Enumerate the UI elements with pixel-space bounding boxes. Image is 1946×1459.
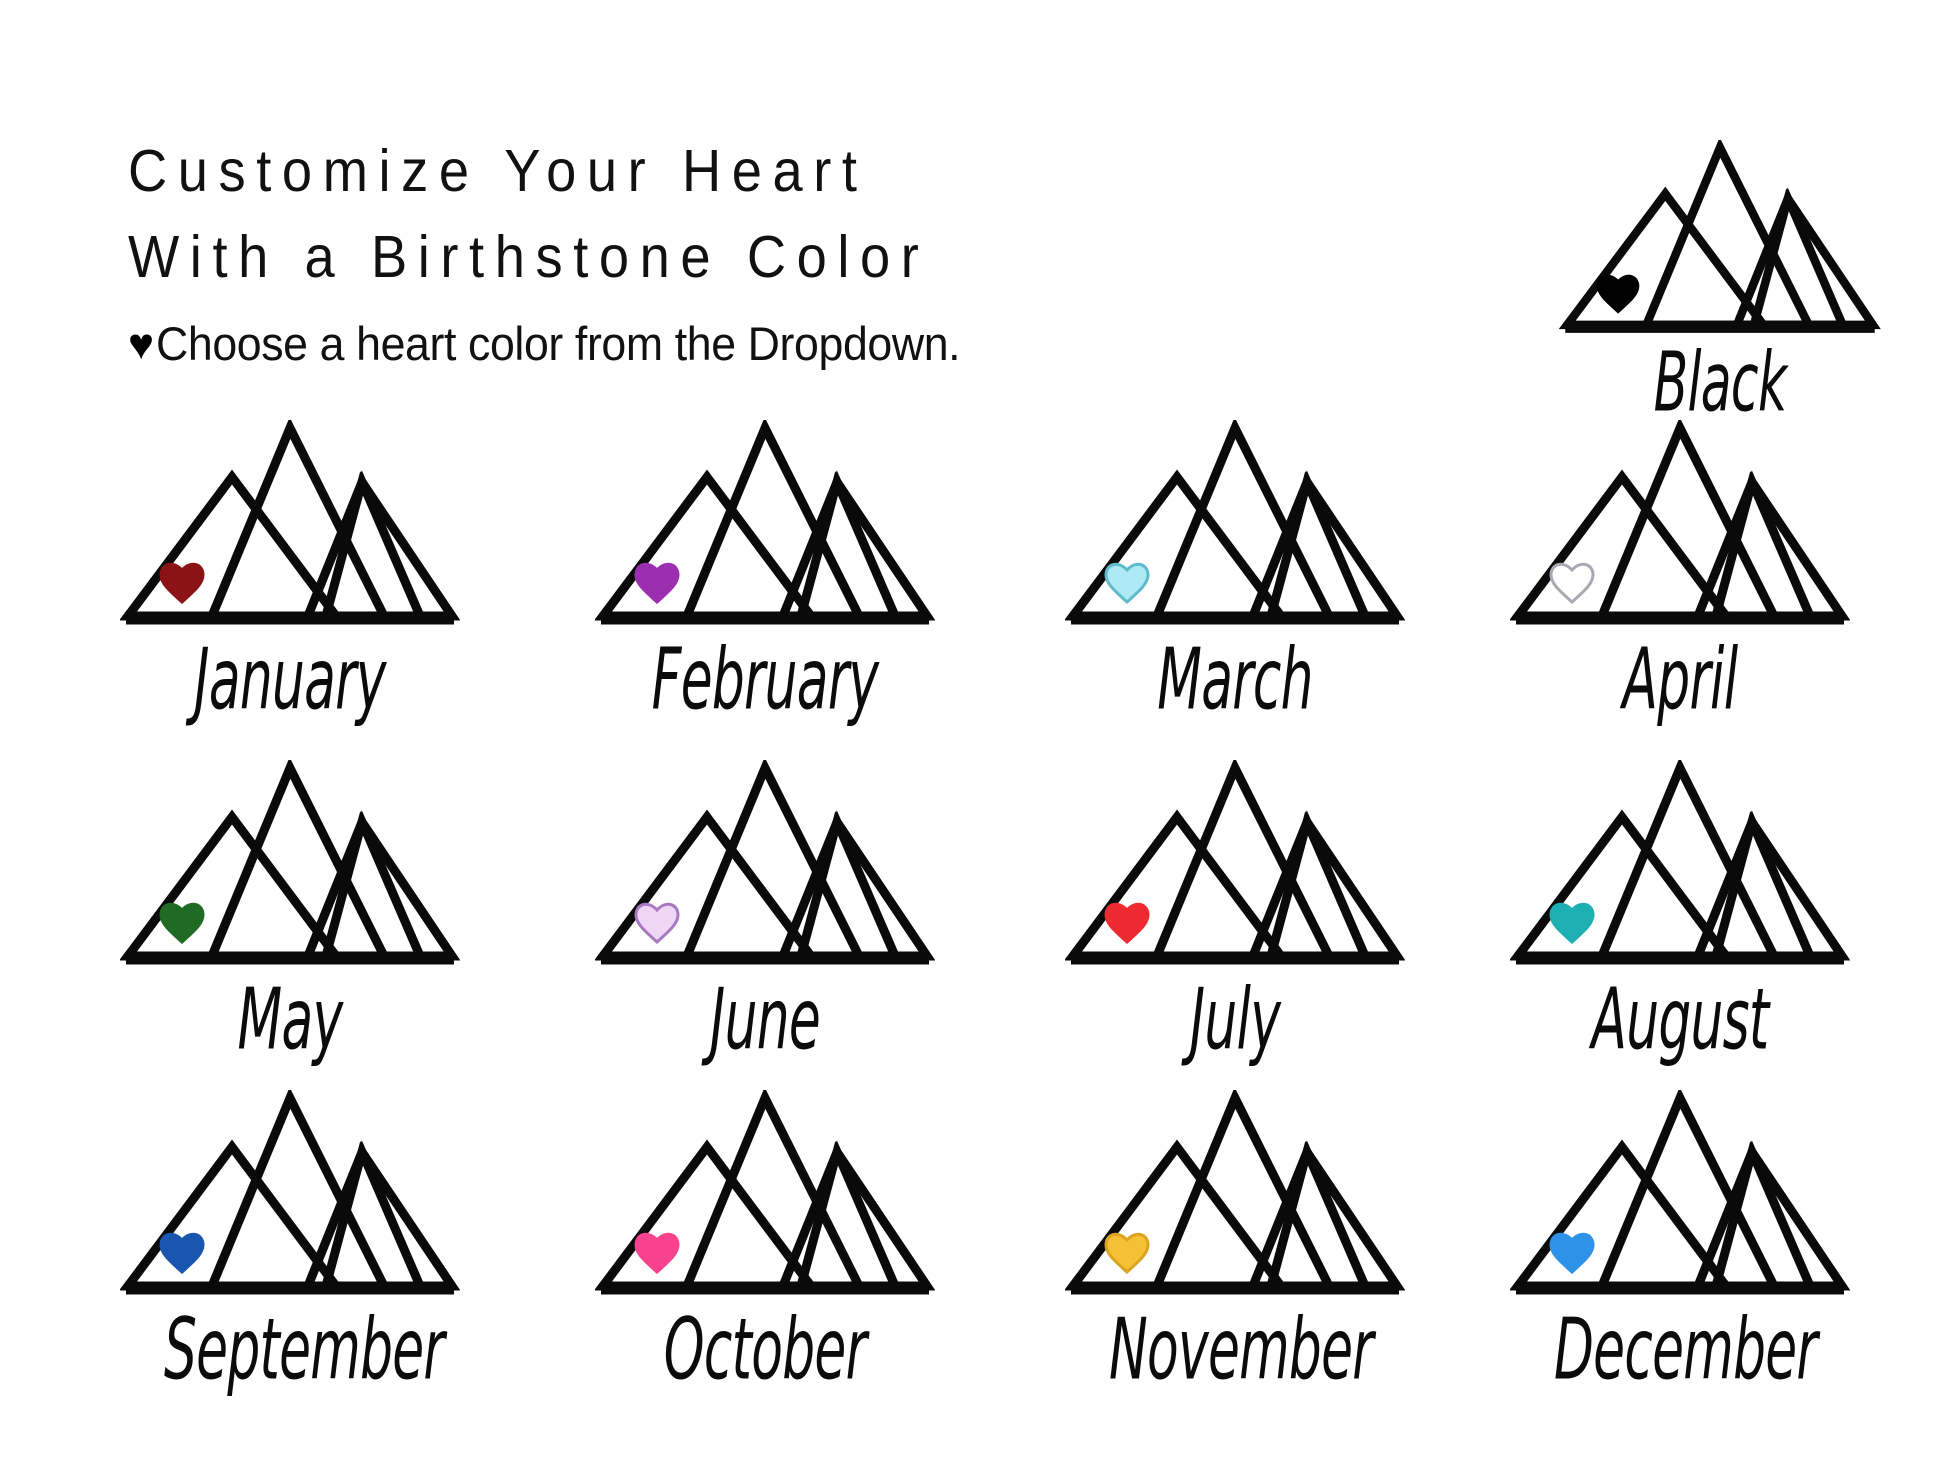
logo-tile-january[interactable]: January [110,420,470,712]
heart-icon [1551,1234,1593,1272]
logo-tile-may[interactable]: May [110,760,470,1052]
heart-icon [161,1234,203,1272]
logo-label: Black [1580,340,1860,424]
mountain-logo-with-heart [1510,760,1850,972]
logo-label: February [639,638,891,722]
heart-icon [161,904,203,942]
mountain-logo-with-heart [595,420,935,632]
page-title-line-1: Customize Your Heart [128,128,1214,214]
logo-tile-april[interactable]: April [1500,420,1860,712]
mountain-logo-with-heart [1065,760,1405,972]
page-title-line-2: With a Birthstone Color [128,214,1214,300]
header: Customize Your Heart With a Birthstone C… [128,128,1308,371]
heart-icon: ♥ [128,323,154,367]
logo-tile-february[interactable]: February [585,420,945,712]
logo-tile-october[interactable]: October [585,1090,945,1382]
heart-icon [1106,904,1148,942]
subtitle: ♥ Choose a heart color from the Dropdown… [128,316,1308,371]
logo-tile-june[interactable]: June [585,760,945,1052]
logo-tile-black[interactable]: Black [1520,140,1920,414]
heart-icon [636,564,678,602]
logo-label: November [1109,1308,1361,1392]
logo-label: October [639,1308,891,1392]
logo-tile-december[interactable]: December [1500,1090,1860,1382]
heart-icon [1551,564,1593,602]
mountain-logo-with-heart [120,420,460,632]
logo-label: June [639,978,891,1062]
mountain-logo-with-heart [120,1090,460,1302]
logo-tile-november[interactable]: November [1055,1090,1415,1382]
logo-label: May [164,978,416,1062]
heart-icon [1598,276,1638,312]
heart-icon [1551,904,1593,942]
logo-tile-september[interactable]: September [110,1090,470,1382]
subtitle-text: Choose a heart color from the Dropdown. [156,316,960,371]
logo-tile-august[interactable]: August [1500,760,1860,1052]
logo-label: January [164,638,416,722]
heart-icon [1106,564,1148,602]
heart-icon [1106,1234,1148,1272]
logo-label: August [1554,978,1806,1062]
heart-icon [161,564,203,602]
mountain-logo-with-heart [1510,1090,1850,1302]
logo-label: March [1109,638,1361,722]
logo-tile-march[interactable]: March [1055,420,1415,712]
mountain-logo-with-heart [1510,420,1850,632]
mountain-logo-with-heart [1065,1090,1405,1302]
mountain-logo-with-heart [595,760,935,972]
mountain-logo-with-heart [120,760,460,972]
logo-label: April [1554,638,1806,722]
mountain-logo-with-heart [595,1090,935,1302]
heart-icon [636,904,678,942]
heart-icon [636,1234,678,1272]
logo-tile-july[interactable]: July [1055,760,1415,1052]
mountain-logo-with-heart [1065,420,1405,632]
mountain-logo-with-heart [1555,140,1885,340]
logo-label: December [1554,1308,1806,1392]
logo-label: July [1109,978,1361,1062]
logo-label: September [164,1308,416,1392]
